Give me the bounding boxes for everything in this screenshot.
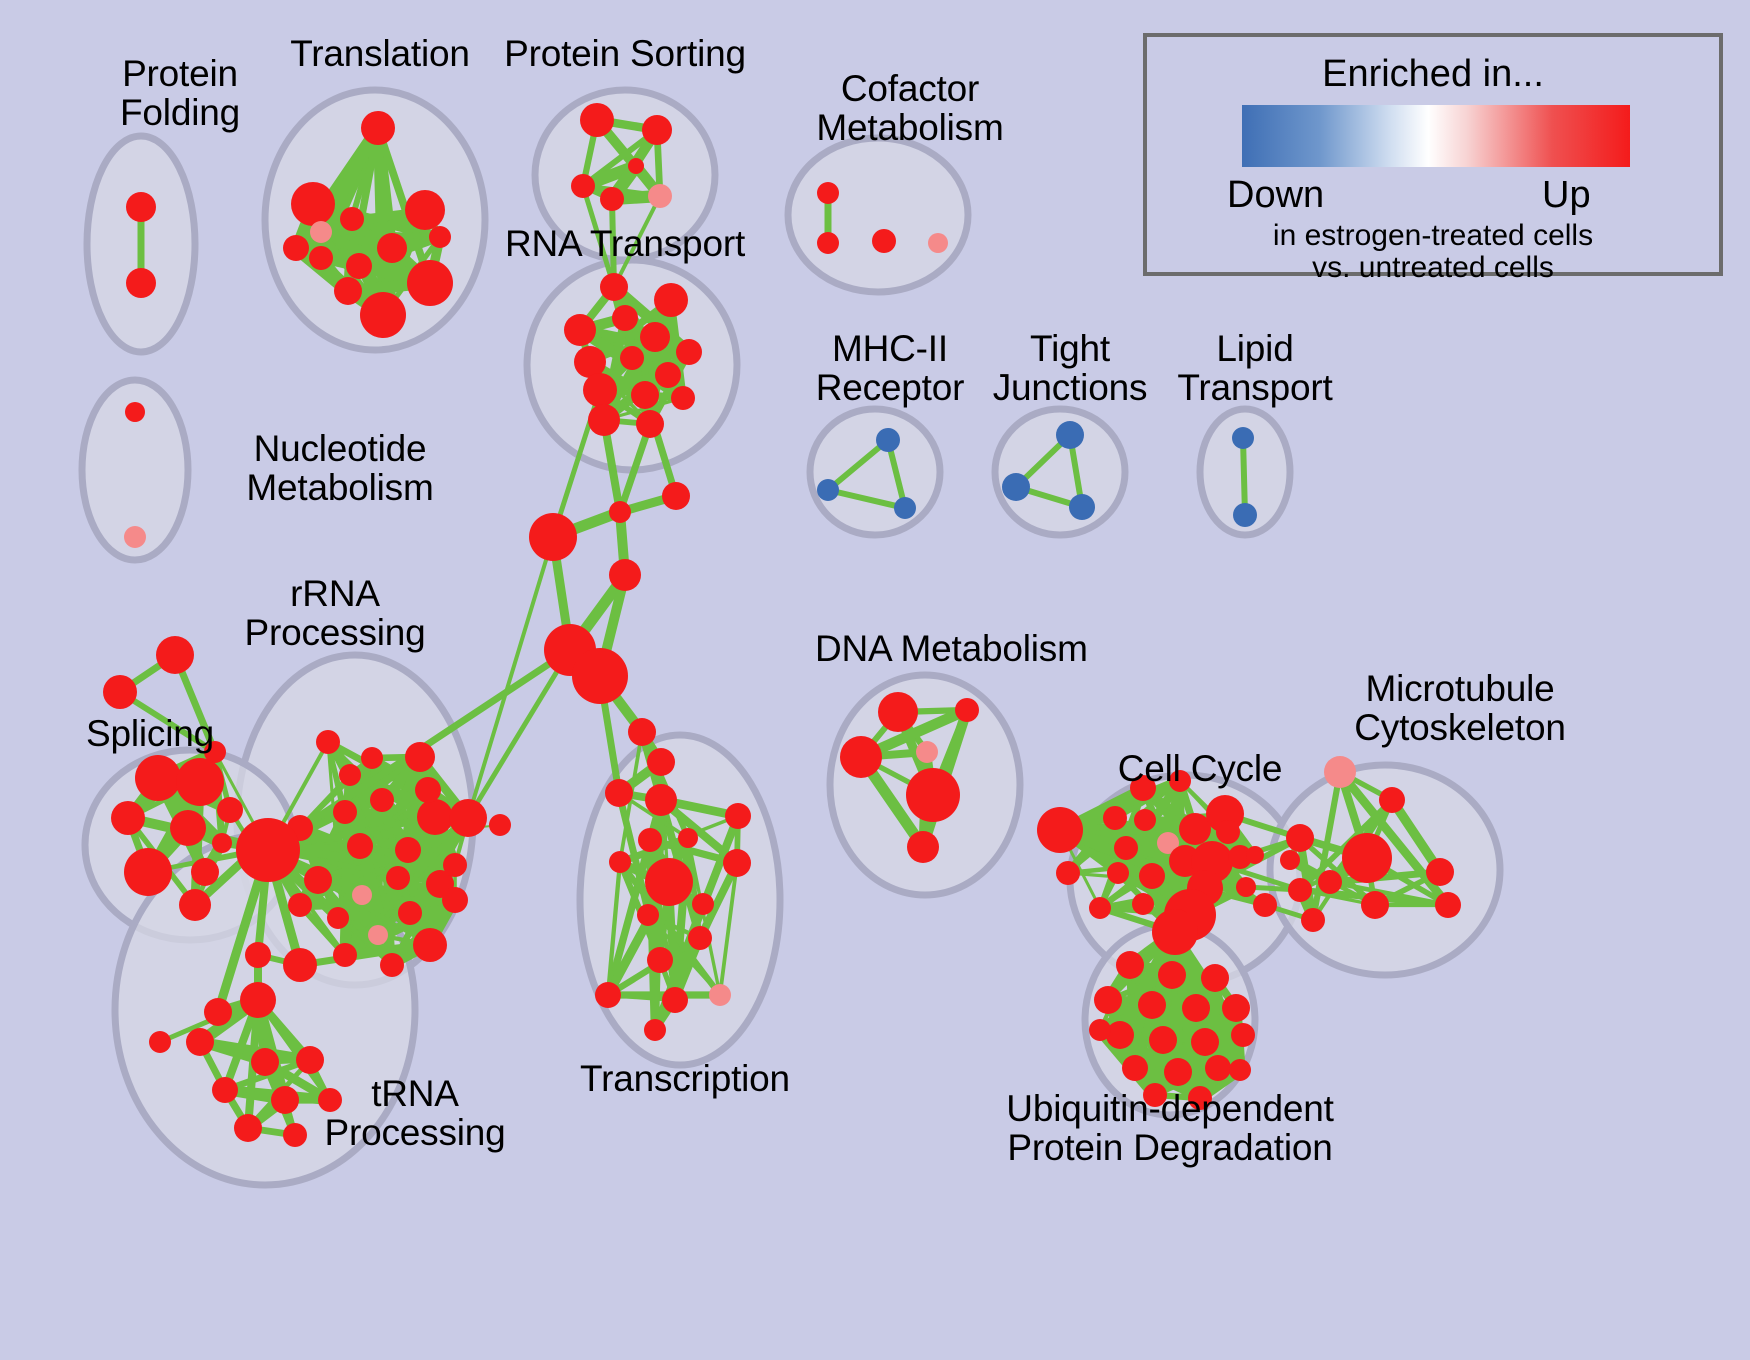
gene-set-node — [240, 982, 276, 1018]
gene-set-node — [417, 799, 453, 835]
gene-set-node — [370, 788, 394, 812]
gene-set-node — [1134, 809, 1156, 831]
gene-set-node — [212, 833, 232, 853]
gene-set-node — [212, 1077, 238, 1103]
gene-set-node — [283, 1123, 307, 1147]
gene-set-node — [415, 777, 441, 803]
gene-set-node — [572, 648, 628, 704]
gene-set-node — [1182, 994, 1210, 1022]
gene-set-node — [380, 953, 404, 977]
cluster-ellipse — [810, 409, 940, 535]
gene-set-node — [271, 1086, 299, 1114]
gene-set-node — [1056, 421, 1084, 449]
gene-set-node — [1253, 893, 1277, 917]
gene-set-node — [395, 837, 421, 863]
gene-set-node — [179, 889, 211, 921]
gene-set-node — [405, 190, 445, 230]
gene-set-node — [1158, 961, 1186, 989]
gene-set-node — [1107, 862, 1129, 884]
gene-set-node — [413, 928, 447, 962]
gene-set-node — [318, 1088, 342, 1112]
gene-set-node — [368, 925, 388, 945]
gene-set-node — [407, 260, 453, 306]
gene-set-node — [1288, 878, 1312, 902]
gene-set-node — [361, 747, 383, 769]
gene-set-node — [647, 947, 673, 973]
gene-set-node — [1426, 858, 1454, 886]
gene-set-node — [405, 742, 435, 772]
gene-set-node — [291, 182, 335, 226]
gene-set-node — [398, 901, 422, 925]
gene-set-node — [1139, 863, 1165, 889]
gene-set-node — [609, 501, 631, 523]
gene-set-node — [296, 1046, 324, 1074]
gene-set-node — [1179, 813, 1211, 845]
gene-set-node — [1222, 994, 1250, 1022]
gene-set-node — [346, 253, 372, 279]
gene-set-node — [588, 404, 620, 436]
gene-set-node — [377, 233, 407, 263]
gene-set-node — [1116, 951, 1144, 979]
legend-color-gradient-bar — [1242, 105, 1630, 167]
gene-set-node — [628, 158, 644, 174]
gene-set-node — [288, 893, 312, 917]
gene-set-node — [327, 907, 349, 929]
gene-set-node — [1002, 473, 1030, 501]
gene-set-node — [111, 801, 145, 835]
gene-set-node — [583, 373, 617, 407]
gene-set-node — [817, 479, 839, 501]
gene-set-node — [928, 233, 948, 253]
gene-set-node — [449, 799, 487, 837]
legend-down-label: Down — [1227, 174, 1324, 217]
gene-set-node — [1318, 870, 1342, 894]
gene-set-node — [126, 192, 156, 222]
gene-set-node — [204, 998, 232, 1026]
gene-set-node — [1191, 1028, 1219, 1056]
gene-set-node — [876, 428, 900, 452]
gene-set-node — [631, 381, 659, 409]
gene-set-node — [1236, 877, 1256, 897]
gene-set-node — [304, 866, 332, 894]
gene-set-node — [1229, 1059, 1251, 1081]
gene-set-node — [1286, 824, 1314, 852]
gene-set-node — [1069, 494, 1095, 520]
gene-set-node — [1379, 787, 1405, 813]
gene-set-node — [309, 246, 333, 270]
gene-set-node — [156, 636, 194, 674]
gene-set-node — [340, 207, 364, 231]
gene-set-node — [429, 226, 451, 248]
gene-set-node — [638, 828, 662, 852]
gene-set-node — [1094, 986, 1122, 1014]
gene-set-node — [1232, 427, 1254, 449]
gene-set-node — [600, 273, 628, 301]
gene-set-node — [1056, 861, 1080, 885]
gene-set-node — [605, 779, 633, 807]
gene-set-node — [662, 482, 690, 510]
gene-set-node — [334, 277, 362, 305]
gene-set-node — [386, 866, 410, 890]
gene-set-node — [671, 386, 695, 410]
gene-set-node — [692, 893, 714, 915]
gene-set-node — [1103, 806, 1127, 830]
gene-set-node — [1114, 836, 1138, 860]
gene-set-node — [529, 513, 577, 561]
gene-set-node — [725, 803, 751, 829]
gene-set-node — [878, 692, 918, 732]
gene-set-node — [360, 292, 406, 338]
gene-set-node — [1089, 1019, 1111, 1041]
gene-set-node — [840, 736, 882, 778]
gene-set-node — [654, 283, 688, 317]
gene-set-node — [636, 410, 664, 438]
gene-set-node — [688, 926, 712, 950]
gene-set-node — [1233, 503, 1257, 527]
gene-set-node — [1435, 892, 1461, 918]
gene-set-node — [217, 797, 243, 823]
gene-set-node — [676, 339, 702, 365]
legend-subtitle-line-1: in estrogen-treated cells — [1147, 219, 1719, 253]
gene-set-node — [906, 768, 960, 822]
gene-set-node — [186, 1028, 214, 1056]
legend-panel: Enriched in... Down Up in estrogen-treat… — [1143, 33, 1723, 276]
gene-set-node — [310, 221, 332, 243]
gene-set-node — [612, 305, 638, 331]
gene-set-node — [1342, 833, 1392, 883]
gene-set-node — [125, 402, 145, 422]
gene-set-node — [1231, 1023, 1255, 1047]
gene-set-node — [245, 942, 271, 968]
gene-set-node — [620, 346, 644, 370]
gene-set-node — [283, 235, 309, 261]
enrichment-map-canvas: Protein FoldingTranslationNucleotide Met… — [0, 0, 1750, 1360]
gene-set-node — [678, 828, 698, 848]
gene-set-node — [648, 184, 672, 208]
gene-set-node — [126, 268, 156, 298]
gene-set-node — [316, 730, 340, 754]
gene-set-node — [1130, 775, 1156, 801]
gene-set-node — [628, 718, 656, 746]
gene-set-node — [347, 833, 373, 859]
edge — [468, 537, 553, 818]
gene-set-node — [333, 943, 357, 967]
gene-set-node — [894, 497, 916, 519]
gene-set-node — [124, 526, 146, 548]
gene-set-node — [1205, 1055, 1231, 1081]
gene-set-node — [176, 758, 224, 806]
gene-set-node — [600, 187, 624, 211]
gene-set-node — [645, 858, 693, 906]
gene-set-node — [571, 174, 595, 198]
gene-set-node — [609, 851, 631, 873]
gene-set-node — [655, 362, 681, 388]
gene-set-node — [333, 800, 357, 824]
gene-set-node — [1280, 850, 1300, 870]
cluster-ellipse — [788, 138, 968, 292]
gene-set-node — [1122, 1055, 1148, 1081]
gene-set-node — [1246, 846, 1264, 864]
gene-set-node — [916, 741, 938, 763]
gene-set-node — [1138, 991, 1166, 1019]
gene-set-node — [443, 853, 467, 877]
gene-set-node — [1132, 893, 1154, 915]
gene-set-node — [1106, 1021, 1134, 1049]
gene-set-node — [595, 982, 621, 1008]
gene-set-node — [251, 1048, 279, 1076]
gene-set-node — [817, 232, 839, 254]
gene-set-node — [723, 849, 751, 877]
gene-set-node — [103, 675, 137, 709]
gene-set-node — [580, 103, 614, 137]
gene-set-node — [124, 848, 172, 896]
gene-set-node — [352, 885, 372, 905]
gene-set-node — [1089, 897, 1111, 919]
gene-set-node — [135, 755, 181, 801]
gene-set-node — [1301, 908, 1325, 932]
gene-set-node — [1188, 1086, 1212, 1110]
gene-set-node — [1037, 807, 1083, 853]
gene-set-node — [709, 984, 731, 1006]
gene-set-node — [955, 698, 979, 722]
gene-set-node — [1152, 909, 1198, 955]
gene-set-node — [1361, 891, 1389, 919]
gene-set-node — [361, 111, 395, 145]
gene-set-node — [1169, 770, 1191, 792]
legend-subtitle-line-2: vs. untreated cells — [1147, 251, 1719, 285]
gene-set-node — [1164, 1058, 1192, 1086]
gene-set-node — [907, 831, 939, 863]
gene-set-node — [234, 1114, 262, 1142]
gene-set-node — [637, 904, 659, 926]
gene-set-node — [609, 559, 641, 591]
gene-set-node — [170, 810, 206, 846]
gene-set-node — [872, 229, 896, 253]
gene-set-node — [1324, 756, 1356, 788]
gene-set-node — [662, 987, 688, 1013]
gene-set-node — [489, 814, 511, 836]
gene-set-node — [1143, 1083, 1167, 1107]
gene-set-node — [149, 1031, 171, 1053]
gene-set-node — [191, 858, 219, 886]
legend-title: Enriched in... — [1147, 53, 1719, 96]
gene-set-node — [1201, 964, 1229, 992]
gene-set-node — [442, 887, 468, 913]
gene-set-node — [640, 322, 670, 352]
gene-set-node — [644, 1019, 666, 1041]
gene-set-node — [1149, 1026, 1177, 1054]
gene-set-node — [647, 748, 675, 776]
gene-set-node — [236, 818, 300, 882]
gene-set-node — [339, 764, 361, 786]
gene-set-node — [817, 182, 839, 204]
edge — [468, 650, 570, 818]
gene-set-node — [642, 115, 672, 145]
gene-set-node — [645, 784, 677, 816]
gene-set-node — [1216, 820, 1240, 844]
gene-set-node — [564, 314, 596, 346]
legend-up-label: Up — [1542, 174, 1591, 217]
gene-set-node — [283, 948, 317, 982]
